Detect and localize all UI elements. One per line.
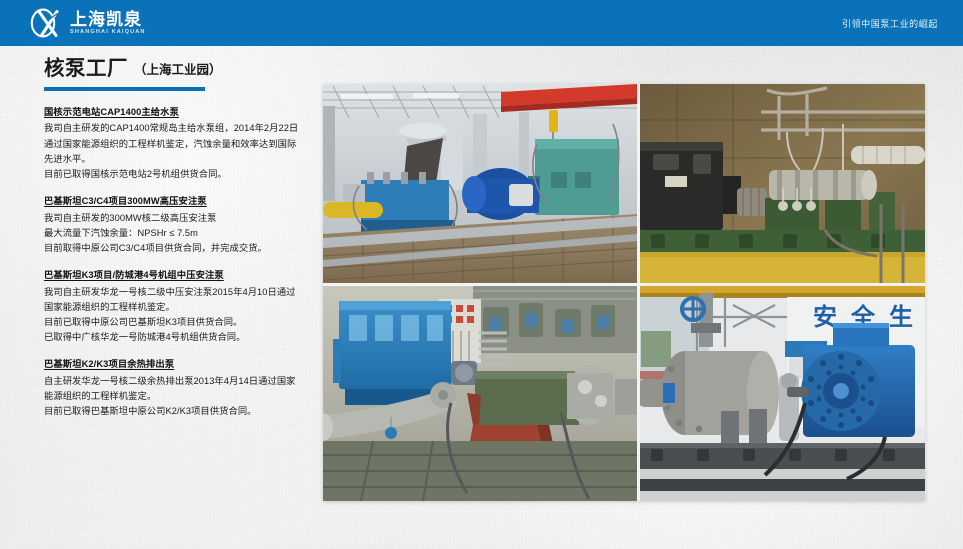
section-line: 我司自主研发的CAP1400常规岛主给水泵组，2014年2月22日 (44, 121, 312, 136)
page-subtitle: （上海工业园） (134, 59, 222, 78)
section-line: 目前已取得国核示范电站2号机组供货合同。 (44, 167, 312, 182)
section-item: 巴基斯坦K2/K3项目余热排出泵 自主研发华龙一号核二级余热排出泵2013年4月… (44, 358, 312, 419)
photo-grid-vertical-separator (637, 84, 640, 501)
section-heading: 巴基斯坦C3/C4项目300MW高压安注泵 (44, 195, 312, 209)
section-item: 巴基斯坦K3项目/防城港4号机组中压安注泵 我司自主研发华龙一号核二级中压安注泵… (44, 269, 312, 345)
slide-root: 上海凯泉 SHANGHAI KAIQUAN 引领中国泵工业的崛起 核泵工厂 （上… (0, 0, 963, 549)
section-line: 最大流量下汽蚀余量：NPSHr ≤ 7.5m (44, 226, 312, 241)
section-item: 巴基斯坦C3/C4项目300MW高压安注泵 我司自主研发的300MW核二级高压安… (44, 195, 312, 256)
brand-logo[interactable]: 上海凯泉 SHANGHAI KAIQUAN (30, 7, 144, 39)
section-heading: 巴基斯坦K2/K3项目余热排出泵 (44, 358, 312, 372)
section-line: 自主研发华龙一号核二级余热排出泵2013年4月14日通过国家 (44, 374, 312, 389)
section-line: 能源组织的工程样机鉴定。 (44, 389, 312, 404)
page-title: 核泵工厂 (44, 58, 128, 81)
section-line: 目前取得中原公司C3/C4项目供货合同，并完成交货。 (44, 241, 312, 256)
photo-feedwater-pump-hall[interactable] (323, 84, 637, 283)
brand-logo-text: 上海凯泉 SHANGHAI KAIQUAN (70, 11, 144, 36)
photo-grid: 安 全 生 (323, 84, 925, 501)
section-line: 国家能源组织的工程样机鉴定。 (44, 300, 312, 315)
section-item: 国核示范电站CAP1400主给水泵 我司自主研发的CAP1400常规岛主给水泵组… (44, 106, 312, 182)
section-line: 我司自主研发华龙一号核二级中压安注泵2015年4月10日通过 (44, 285, 312, 300)
header-bar: 上海凯泉 SHANGHAI KAIQUAN 引领中国泵工业的崛起 (0, 0, 963, 46)
photo-residual-heat-removal-pump[interactable]: 安 全 生 (637, 283, 925, 501)
section-list: 国核示范电站CAP1400主给水泵 我司自主研发的CAP1400常规岛主给水泵组… (44, 106, 312, 419)
section-heading: 巴基斯坦K3项目/防城港4号机组中压安注泵 (44, 269, 312, 283)
brand-name-en: SHANGHAI KAIQUAN (70, 30, 146, 36)
photo-high-pressure-injection-pump[interactable] (637, 84, 925, 283)
svg-text:生: 生 (889, 304, 913, 331)
page-title-row: 核泵工厂 （上海工业园） (44, 58, 312, 81)
section-heading: 国核示范电站CAP1400主给水泵 (44, 106, 312, 120)
section-line: 通过国家能源组织的工程样机鉴定，汽蚀余量和效率达到国际 (44, 137, 312, 152)
brand-name-cn: 上海凯泉 (70, 11, 144, 28)
photo-medium-pressure-injection-pump[interactable] (323, 283, 637, 501)
section-line: 已取得中广核华龙一号防城港4号机组供货合同。 (44, 330, 312, 345)
section-line: 我司自主研发的300MW核二级高压安注泵 (44, 211, 312, 226)
section-line: 目前已取得巴基斯坦中原公司K2/K3项目供货合同。 (44, 404, 312, 419)
section-line: 先进水平。 (44, 152, 312, 167)
section-line: 目前已取得中原公司巴基斯坦K3项目供货合同。 (44, 315, 312, 330)
content-left-column: 核泵工厂 （上海工业园） 国核示范电站CAP1400主给水泵 我司自主研发的CA… (44, 58, 312, 419)
photo-grid-horizontal-separator (323, 283, 925, 286)
title-underline-rule (44, 87, 205, 91)
header-slogan: 引领中国泵工业的崛起 (842, 0, 938, 46)
kaiquan-logo-mark-icon (30, 8, 64, 38)
